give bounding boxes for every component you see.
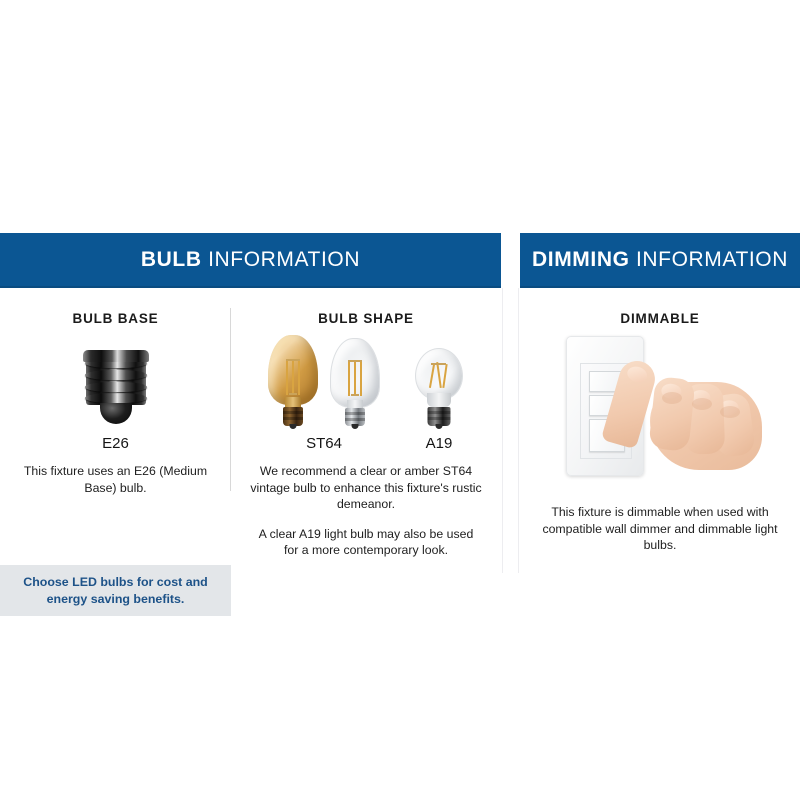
gap-rule-right (518, 288, 519, 573)
bulb-base-caption: E26 (0, 435, 231, 452)
bulb-base-description: This fixture uses an E26 (Medium Base) b… (16, 463, 216, 496)
dimming-information-body: DIMMABLE (520, 311, 800, 596)
bulb-base-title: BULB BASE (0, 311, 231, 326)
bulb-shape-description-1: We recommend a clear or amber ST64 vinta… (250, 463, 482, 513)
st64-amber-art-cell (262, 335, 324, 426)
led-bulbs-callout: Choose LED bulbs for cost and energy sav… (0, 565, 231, 616)
dimming-information-panel: DIMMING INFORMATION DIMMABLE (520, 233, 800, 573)
bulb-information-header-text: BULB INFORMATION (141, 248, 360, 272)
dimming-information-header-bold: DIMMING (532, 248, 630, 271)
bulb-information-header: BULB INFORMATION (0, 233, 501, 288)
bulb-base-art-row (0, 334, 231, 426)
bulb-information-header-bold: BULB (141, 248, 202, 271)
st64-clear-bulb-icon (330, 338, 380, 426)
led-bulbs-callout-text: Choose LED bulbs for cost and energy sav… (16, 574, 216, 607)
bulb-information-header-thin: INFORMATION (208, 248, 360, 271)
e26-screw-base-icon (83, 350, 149, 426)
bulb-base-section: BULB BASE (0, 288, 231, 573)
dimmable-description: This fixture is dimmable when used with … (540, 504, 780, 554)
page-canvas: BULB INFORMATION BULB BASE (0, 0, 800, 800)
panel-gap (501, 233, 520, 573)
bulb-shape-captions: ST64 A19 (231, 426, 501, 452)
second-finger (648, 376, 695, 452)
st64-caption: ST64 (262, 435, 386, 452)
wall-dimmer-switch-icon (560, 330, 760, 490)
bulb-shape-section: BULB SHAPE (231, 288, 501, 573)
dimming-information-header-thin: INFORMATION (636, 248, 788, 271)
a19-art-cell (408, 348, 470, 426)
hand-icon (612, 358, 762, 483)
bulb-shape-description-2: A clear A19 light bulb may also be used … (250, 526, 482, 559)
bulb-information-body: BULB BASE (0, 288, 501, 573)
bulb-shape-title: BULB SHAPE (231, 311, 501, 326)
dimming-information-header-text: DIMMING INFORMATION (532, 248, 788, 272)
a19-bulb-icon (411, 348, 467, 426)
st64-clear-art-cell (324, 338, 386, 426)
bulb-shape-art-row (231, 334, 501, 426)
info-panels: BULB INFORMATION BULB BASE (0, 233, 800, 573)
st64-amber-bulb-icon (268, 335, 318, 426)
a19-caption: A19 (408, 435, 470, 452)
bulb-information-panel: BULB INFORMATION BULB BASE (0, 233, 501, 573)
e26-base-art-cell (83, 350, 149, 426)
dimmable-title: DIMMABLE (520, 311, 800, 326)
dimming-information-header: DIMMING INFORMATION (520, 233, 800, 288)
gap-rule-left (502, 288, 503, 573)
